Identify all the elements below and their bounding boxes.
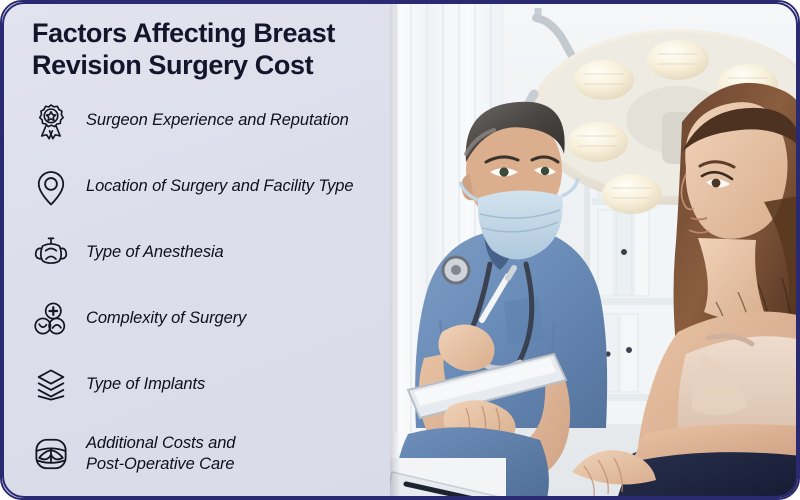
location-pin-icon bbox=[30, 166, 72, 208]
list-item-label: Type of Implants bbox=[86, 374, 205, 394]
anesthesia-mask-icon bbox=[30, 232, 72, 274]
list-item-label: Location of Surgery and Facility Type bbox=[86, 176, 353, 196]
stacked-layers-icon bbox=[30, 364, 72, 406]
list-item-label: Additional Costs and Post-Operative Care bbox=[86, 433, 235, 474]
factors-panel: Factors Affecting Breast Revision Surger… bbox=[2, 2, 390, 500]
page-title: Factors Affecting Breast Revision Surger… bbox=[32, 18, 372, 82]
list-item[interactable]: Type of Implants bbox=[24, 352, 376, 418]
medical-circles-plus-icon bbox=[30, 298, 72, 340]
page-title-line-1: Factors Affecting Breast bbox=[32, 18, 372, 50]
list-item[interactable]: Additional Costs and Post-Operative Care bbox=[24, 418, 376, 490]
award-ribbon-icon bbox=[30, 100, 72, 142]
list-item[interactable]: Type of Anesthesia bbox=[24, 220, 376, 286]
list-item[interactable]: Complexity of Surgery bbox=[24, 286, 376, 352]
list-item[interactable]: Surgeon Experience and Reputation bbox=[24, 88, 376, 154]
list-item-label: Complexity of Surgery bbox=[86, 308, 246, 328]
list-item-label: Surgeon Experience and Reputation bbox=[86, 110, 349, 130]
clinic-consultation-photo bbox=[386, 2, 800, 500]
list-item-label: Type of Anesthesia bbox=[86, 242, 224, 262]
post-op-care-icon bbox=[30, 433, 72, 475]
infographic-card: Factors Affecting Breast Revision Surger… bbox=[0, 0, 800, 500]
list-item[interactable]: Location of Surgery and Facility Type bbox=[24, 154, 376, 220]
factors-list: Surgeon Experience and Reputation Locati… bbox=[24, 88, 376, 490]
page-title-line-2: Revision Surgery Cost bbox=[32, 50, 372, 82]
